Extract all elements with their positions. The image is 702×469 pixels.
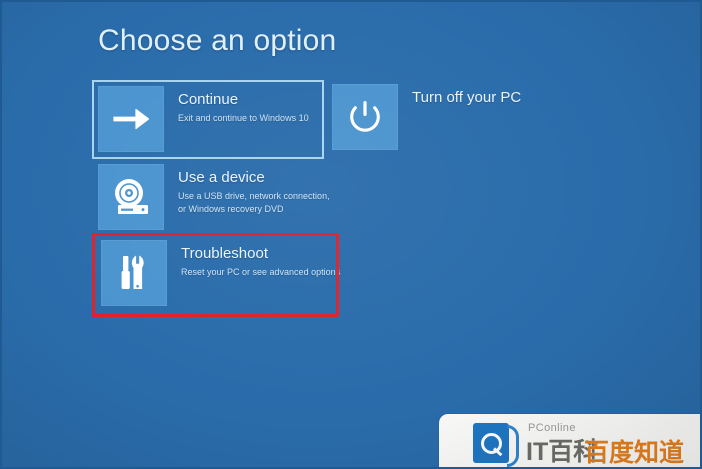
arrow-right-icon xyxy=(98,86,164,152)
pconline-logo-icon xyxy=(473,423,517,463)
option-use-a-device[interactable]: Use a device Use a USB drive, network co… xyxy=(98,164,338,230)
option-turn-off-your-pc-text: Turn off your PC xyxy=(398,84,521,107)
option-use-a-device-text: Use a device Use a USB drive, network co… xyxy=(164,164,338,215)
option-troubleshoot-text: Troubleshoot Reset your PC or see advanc… xyxy=(167,240,340,279)
watermark-overlay-text: 百度知道 xyxy=(584,433,684,469)
option-turn-off-your-pc-title: Turn off your PC xyxy=(412,89,521,107)
option-troubleshoot-title: Troubleshoot xyxy=(181,245,340,263)
logo-page-curl xyxy=(507,425,519,467)
disc-drive-icon xyxy=(98,164,164,230)
option-continue[interactable]: Continue Exit and continue to Windows 10 xyxy=(98,86,309,152)
option-continue-subtitle: Exit and continue to Windows 10 xyxy=(178,112,309,125)
option-use-a-device-title: Use a device xyxy=(178,169,338,187)
option-troubleshoot-subtitle: Reset your PC or see advanced options xyxy=(181,266,340,279)
option-continue-title: Continue xyxy=(178,91,309,109)
watermark: PConline IT百科 百度知道 xyxy=(439,414,702,469)
option-troubleshoot[interactable]: Troubleshoot Reset your PC or see advanc… xyxy=(101,240,340,306)
power-icon xyxy=(332,84,398,150)
option-continue-text: Continue Exit and continue to Windows 10 xyxy=(164,86,309,125)
option-use-a-device-subtitle: Use a USB drive, network connection, or … xyxy=(178,190,338,215)
tools-icon xyxy=(101,240,167,306)
page-title: Choose an option xyxy=(98,24,336,58)
option-turn-off-your-pc[interactable]: Turn off your PC xyxy=(332,84,521,150)
recovery-screen: Choose an option Continue Exit and conti… xyxy=(0,0,702,469)
watermark-texts: PConline IT百科 百度知道 xyxy=(526,421,702,465)
